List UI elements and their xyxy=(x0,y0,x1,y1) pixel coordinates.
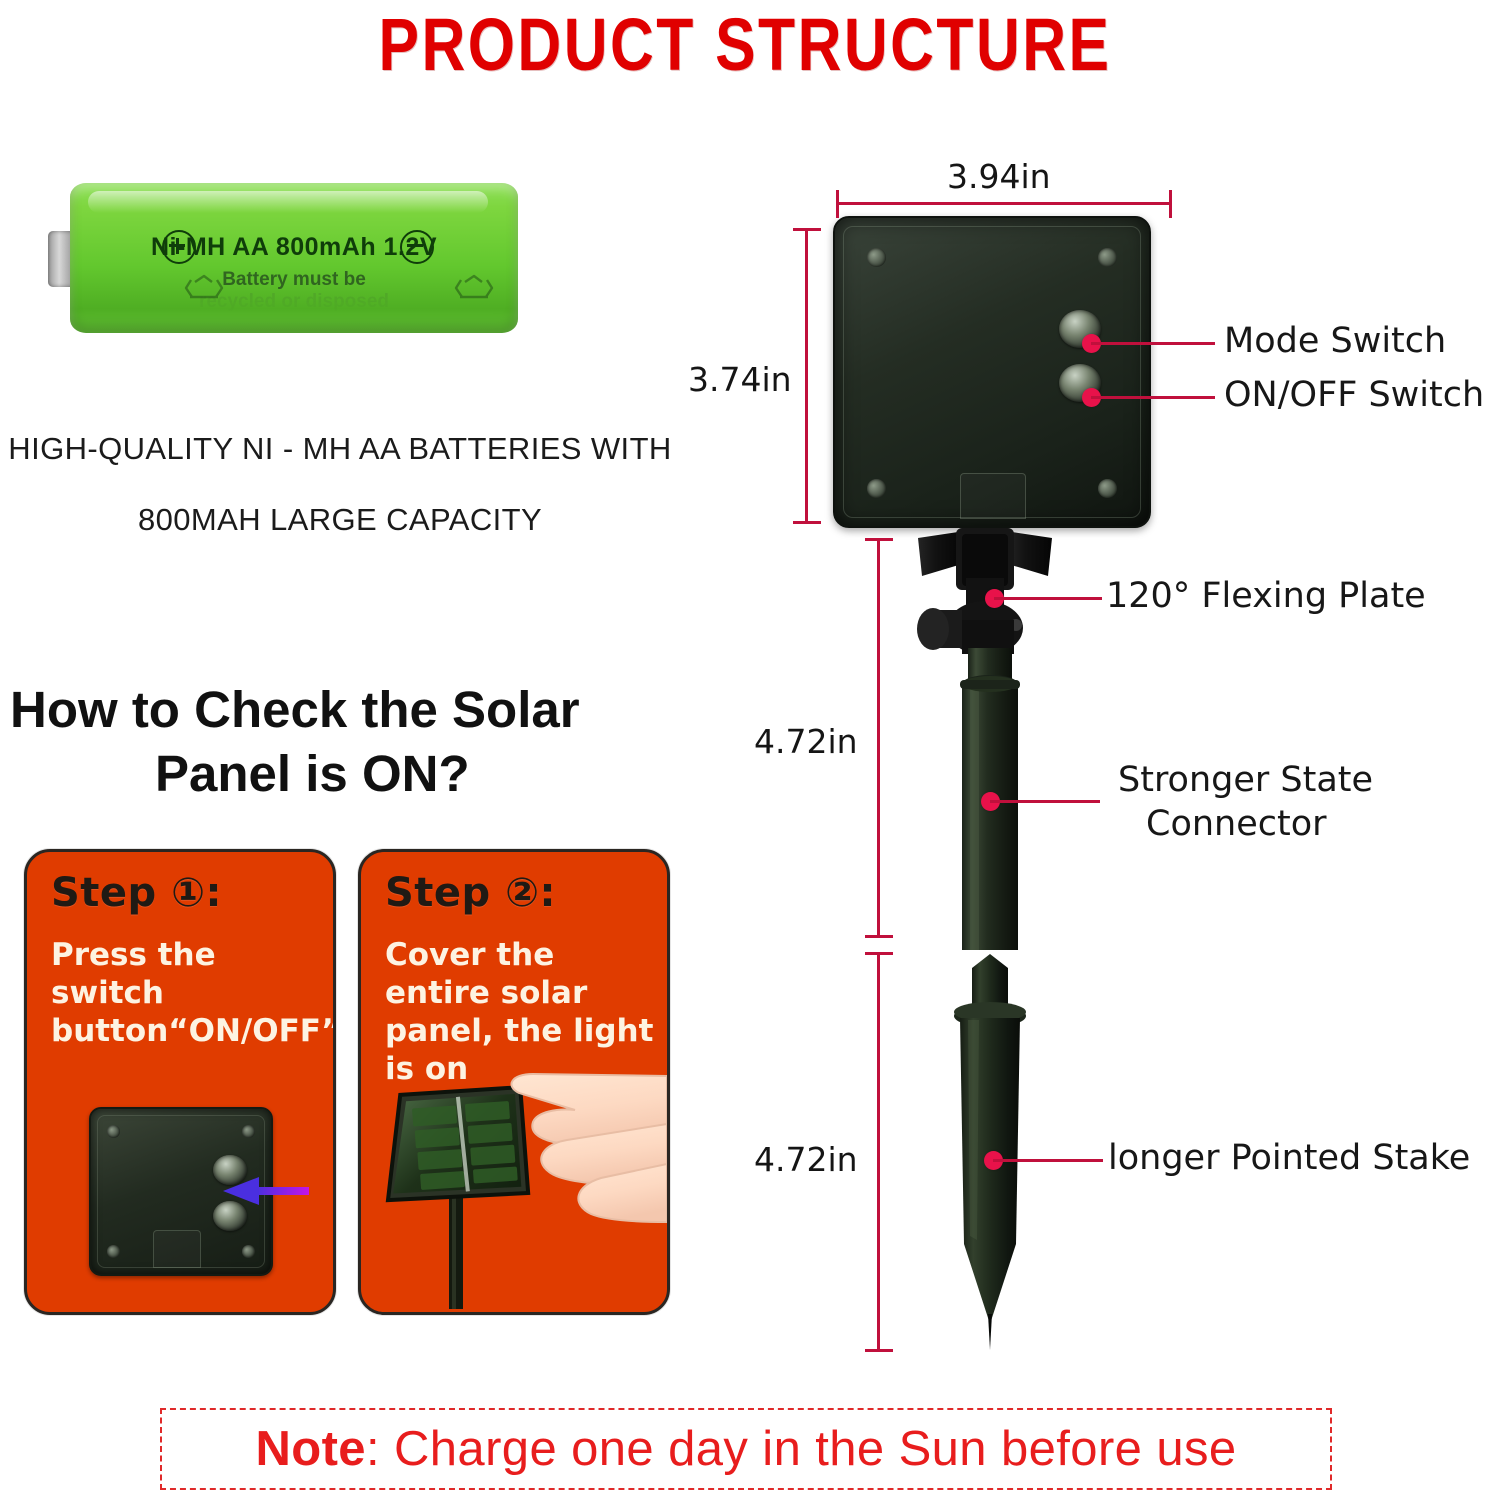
recycle-icon xyxy=(182,273,226,303)
dimension-tick xyxy=(865,538,893,541)
step-1-body: Press the switch button“ON/OFF” xyxy=(51,936,323,1050)
battery-spec-label: Ni-MH AA 800mAh 1.2V xyxy=(70,233,518,262)
callout-label-stake: longer Pointed Stake xyxy=(1108,1138,1470,1179)
callout-label-connector-line1: Stronger State xyxy=(1118,760,1373,801)
step-card-2: Step ②: Cover the entire solar panel, th… xyxy=(358,849,670,1315)
howto-heading-line1: How to Check the Solar xyxy=(10,680,580,739)
dimension-height-line xyxy=(805,228,808,524)
battery-caption-line1: HIGH-QUALITY NI - MH AA BATTERIES WITH xyxy=(0,431,680,467)
dimension-width-line xyxy=(836,202,1172,205)
callout-leader-flexing-plate xyxy=(994,597,1102,600)
note-body: : Charge one day in the Sun before use xyxy=(366,1422,1237,1476)
infographic-root: PRODUCT STRUCTURE Ni-MH AA 800mAh 1.2V B… xyxy=(0,0,1490,1500)
dimension-width-label: 3.94in xyxy=(947,157,1051,196)
dimension-tick xyxy=(865,952,893,955)
dimension-tick xyxy=(1169,190,1172,218)
step-card-1: Step ①: Press the switch button“ON/OFF” xyxy=(24,849,336,1315)
solar-panel-back-diagram xyxy=(833,216,1151,528)
battery-warning-line2: recycled or disposed xyxy=(70,291,518,313)
callout-leader-connector xyxy=(990,800,1100,803)
battery-warning-line1: Battery must be xyxy=(70,269,518,291)
pointer-arrow-icon xyxy=(223,1176,309,1206)
callout-leader-onoff-switch xyxy=(1091,396,1215,399)
dimension-stake-line xyxy=(877,952,880,1352)
callout-label-onoff-switch: ON/OFF Switch xyxy=(1224,375,1484,416)
dimension-tick xyxy=(793,521,821,524)
note-box: Note: Charge one day in the Sun before u… xyxy=(160,1408,1332,1490)
dimension-tick xyxy=(836,190,839,218)
hand-covering-solar-panel-icon xyxy=(361,1068,667,1309)
battery-gloss xyxy=(88,191,488,213)
battery-caption-line2: 800MAH LARGE CAPACITY xyxy=(0,502,680,538)
dimension-tick xyxy=(865,1349,893,1352)
step-2-body: Cover the entire solar panel, the light … xyxy=(385,936,657,1089)
callout-label-flexing-plate: 120° Flexing Plate xyxy=(1106,576,1426,617)
step-2-title: Step ②: xyxy=(385,870,556,916)
battery-illustration: Ni-MH AA 800mAh 1.2V Battery must be rec… xyxy=(48,183,518,333)
dimension-tick xyxy=(793,228,821,231)
callout-leader-mode-switch xyxy=(1091,342,1215,345)
battery-body: Ni-MH AA 800mAh 1.2V Battery must be rec… xyxy=(70,183,518,333)
dimension-connector-label: 4.72in xyxy=(754,722,858,761)
step-1-title: Step ①: xyxy=(51,870,222,916)
callout-label-connector-line2: Connector xyxy=(1146,804,1327,845)
dimension-height-label: 3.74in xyxy=(688,360,792,399)
dimension-connector-line xyxy=(877,538,880,938)
callout-leader-stake xyxy=(993,1159,1103,1162)
page-title: PRODUCT STRUCTURE xyxy=(134,2,1356,87)
note-prefix: Note xyxy=(255,1422,366,1476)
swivel-joint xyxy=(917,601,1023,655)
note-text: Note: Charge one day in the Sun before u… xyxy=(255,1421,1236,1477)
dimension-stake-label: 4.72in xyxy=(754,1140,858,1179)
howto-heading-line2: Panel is ON? xyxy=(155,744,470,803)
callout-label-mode-switch: Mode Switch xyxy=(1224,321,1446,362)
dimension-tick xyxy=(865,935,893,938)
recycle-icon xyxy=(452,273,496,303)
pole-and-stake-assembly xyxy=(900,524,1090,1354)
